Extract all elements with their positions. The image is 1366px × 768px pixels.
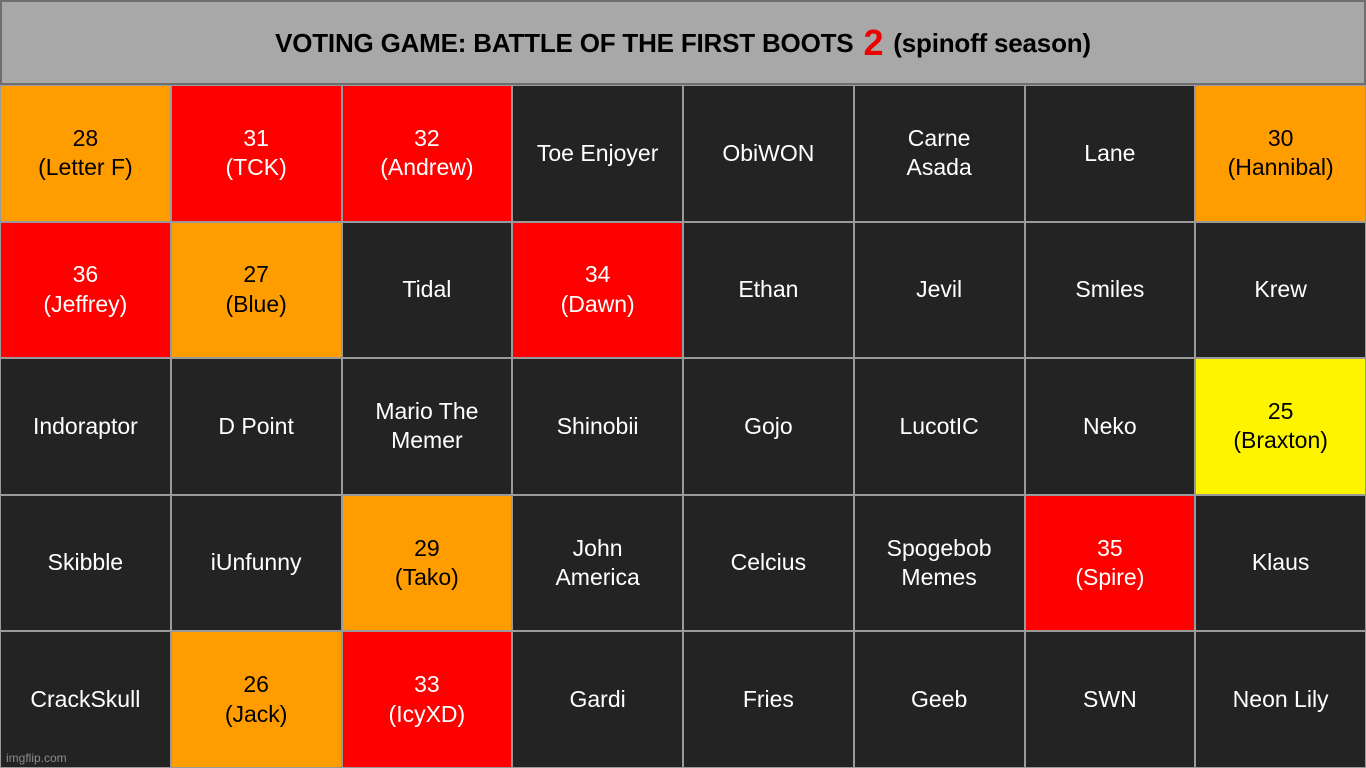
grid-cell[interactable]: 33 (IcyXD) [342, 631, 513, 768]
grid-cell[interactable]: Tidal [342, 222, 513, 359]
grid-cell-label: Smiles [1075, 275, 1144, 304]
grid-cell-label: Skibble [48, 548, 123, 577]
grid-cell[interactable]: ObiWON [683, 85, 854, 222]
grid-cell[interactable]: Spogebob Memes [854, 495, 1025, 632]
grid-cell[interactable]: 34 (Dawn) [512, 222, 683, 359]
grid-cell[interactable]: 30 (Hannibal) [1195, 85, 1366, 222]
grid-cell[interactable]: Carne Asada [854, 85, 1025, 222]
title-text-part-1: VOTING GAME: BATTLE OF THE FIRST BOOTS [275, 28, 860, 58]
grid-cell[interactable]: Smiles [1025, 222, 1196, 359]
grid-cell-label: Neon Lily [1233, 685, 1329, 714]
grid-cell-label: Celcius [731, 548, 806, 577]
grid-cell-label: 27 (Blue) [225, 260, 286, 319]
grid-cell-label: Shinobii [557, 412, 639, 441]
grid-cell[interactable]: Neko [1025, 358, 1196, 495]
grid-cell-label: iUnfunny [211, 548, 302, 577]
grid-cell-label: Neko [1083, 412, 1137, 441]
grid-cell-label: 29 (Tako) [395, 534, 459, 593]
grid-cell[interactable]: iUnfunny [171, 495, 342, 632]
grid-cell-label: 32 (Andrew) [380, 124, 473, 183]
title-text-part-2: (spinoff season) [886, 28, 1091, 58]
grid-cell[interactable]: 36 (Jeffrey) [0, 222, 171, 359]
grid-cell-label: Spogebob Memes [887, 534, 992, 593]
grid-cell-label: Krew [1254, 275, 1306, 304]
grid-cell-label: Fries [743, 685, 794, 714]
grid-cell[interactable]: Neon Lily [1195, 631, 1366, 768]
grid-cell-label: 30 (Hannibal) [1228, 124, 1334, 183]
grid-cell-label: John America [555, 534, 639, 593]
grid-cell[interactable]: John America [512, 495, 683, 632]
grid-cell[interactable]: Celcius [683, 495, 854, 632]
grid-cell-label: Jevil [916, 275, 962, 304]
grid-cell[interactable]: Geeb [854, 631, 1025, 768]
grid-cell[interactable]: 25 (Braxton) [1195, 358, 1366, 495]
page-title: VOTING GAME: BATTLE OF THE FIRST BOOTS 2… [275, 25, 1091, 61]
grid-cell-label: ObiWON [722, 139, 814, 168]
grid-cell[interactable]: LucotIC [854, 358, 1025, 495]
grid-cell[interactable]: 35 (Spire) [1025, 495, 1196, 632]
grid-cell-label: Mario The Memer [375, 397, 478, 456]
grid-cell[interactable]: 29 (Tako) [342, 495, 513, 632]
grid-cell-label: Gojo [744, 412, 793, 441]
grid-cell-label: LucotIC [899, 412, 978, 441]
grid-cell-label: Lane [1084, 139, 1135, 168]
grid-cell-label: CrackSkull [30, 685, 140, 714]
grid-cell[interactable]: Toe Enjoyer [512, 85, 683, 222]
grid-cell-label: Klaus [1252, 548, 1310, 577]
grid-cell-label: 26 (Jack) [225, 670, 288, 729]
grid-cell-label: Indoraptor [33, 412, 138, 441]
grid-cell[interactable]: Shinobii [512, 358, 683, 495]
grid-cell-label: 36 (Jeffrey) [43, 260, 127, 319]
contestant-grid: 28 (Letter F)31 (TCK)32 (Andrew)Toe Enjo… [0, 85, 1366, 768]
title-bar: VOTING GAME: BATTLE OF THE FIRST BOOTS 2… [0, 0, 1366, 85]
meme-canvas: VOTING GAME: BATTLE OF THE FIRST BOOTS 2… [0, 0, 1366, 768]
grid-cell[interactable]: Lane [1025, 85, 1196, 222]
grid-cell[interactable]: Gardi [512, 631, 683, 768]
grid-cell-label: Toe Enjoyer [537, 139, 658, 168]
grid-cell[interactable]: D Point [171, 358, 342, 495]
grid-cell[interactable]: Klaus [1195, 495, 1366, 632]
grid-cell-label: 25 (Braxton) [1233, 397, 1328, 456]
grid-cell[interactable]: Jevil [854, 222, 1025, 359]
grid-cell[interactable]: Skibble [0, 495, 171, 632]
grid-cell[interactable]: Mario The Memer [342, 358, 513, 495]
grid-cell[interactable]: Gojo [683, 358, 854, 495]
grid-cell[interactable]: Ethan [683, 222, 854, 359]
grid-cell[interactable]: Krew [1195, 222, 1366, 359]
grid-cell[interactable]: 32 (Andrew) [342, 85, 513, 222]
grid-cell-label: 33 (IcyXD) [389, 670, 466, 729]
grid-cell-label: SWN [1083, 685, 1137, 714]
grid-cell[interactable]: CrackSkull [0, 631, 171, 768]
grid-cell-label: Tidal [402, 275, 451, 304]
grid-cell-label: 28 (Letter F) [38, 124, 133, 183]
grid-cell[interactable]: 26 (Jack) [171, 631, 342, 768]
grid-cell-label: 34 (Dawn) [561, 260, 635, 319]
grid-cell-label: 35 (Spire) [1075, 534, 1144, 593]
grid-cell-label: Carne Asada [907, 124, 972, 183]
grid-cell[interactable]: SWN [1025, 631, 1196, 768]
title-season-number: 2 [860, 22, 886, 63]
grid-cell[interactable]: 28 (Letter F) [0, 85, 171, 222]
grid-cell-label: Gardi [570, 685, 626, 714]
grid-cell-label: Geeb [911, 685, 967, 714]
grid-cell[interactable]: 27 (Blue) [171, 222, 342, 359]
grid-cell[interactable]: Indoraptor [0, 358, 171, 495]
grid-cell-label: D Point [218, 412, 293, 441]
grid-cell-label: Ethan [738, 275, 798, 304]
grid-cell[interactable]: 31 (TCK) [171, 85, 342, 222]
grid-cell[interactable]: Fries [683, 631, 854, 768]
grid-cell-label: 31 (TCK) [225, 124, 286, 183]
